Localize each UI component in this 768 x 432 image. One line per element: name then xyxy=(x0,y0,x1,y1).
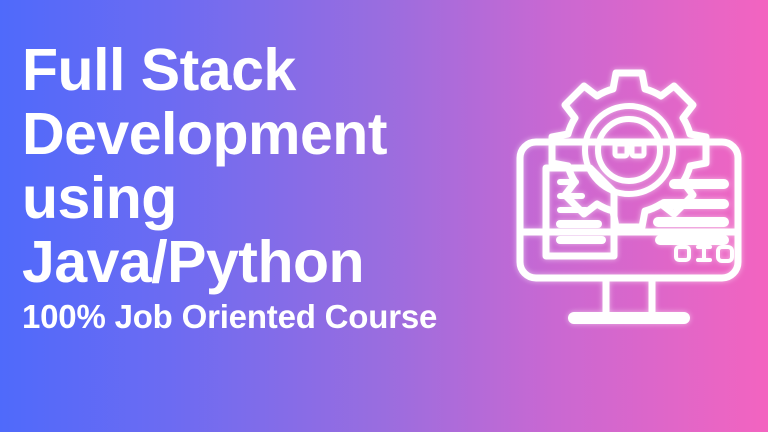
headline-text-block: Full Stack Development using Java/Python… xyxy=(22,38,522,336)
subtitle-tagline: 100% Job Oriented Course xyxy=(22,298,522,336)
headline-line-4: Java/Python xyxy=(22,230,522,294)
monitor-stand-shape xyxy=(574,278,684,318)
headline-line-3: using xyxy=(22,166,522,230)
computer-monitor-with-gear-icon xyxy=(498,62,760,344)
settings-gear-shape xyxy=(552,73,706,227)
course-promo-banner: Full Stack Development using Java/Python… xyxy=(0,0,768,432)
headline-line-1: Full Stack xyxy=(22,38,522,102)
status-indicator-icons-shape xyxy=(676,247,732,261)
headline-line-2: Development xyxy=(22,102,522,166)
